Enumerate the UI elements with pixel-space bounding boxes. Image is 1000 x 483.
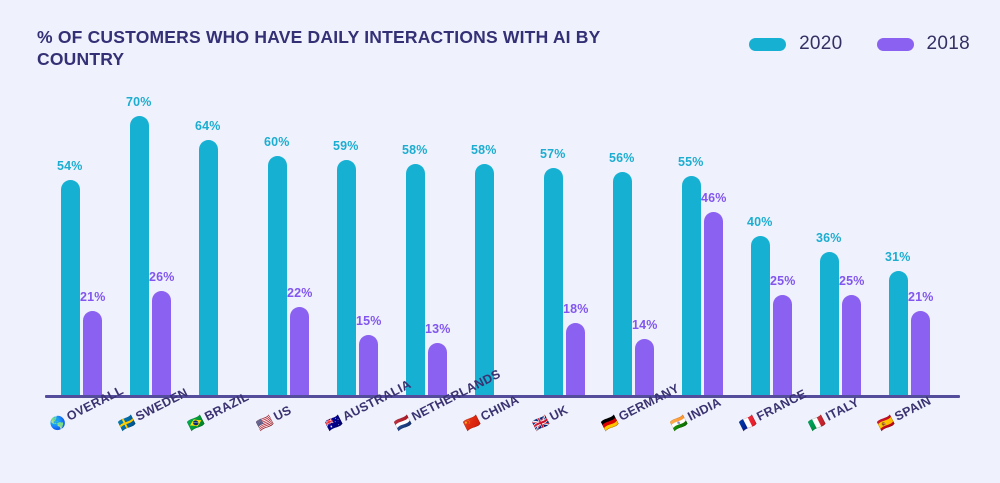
bar-france-2020[interactable] [751,236,770,395]
bar-group-overall: 54%21% [45,100,114,395]
x-axis-label-italy: 🇮🇹ITALY [806,395,861,432]
bar-value-label: 59% [333,139,359,153]
bar-value-label: 56% [609,151,635,165]
bar-value-label: 26% [149,270,175,284]
bar-group-uk: 57%18% [528,100,597,395]
bar-value-label: 58% [402,143,428,157]
bar-sweden-2020[interactable] [130,116,149,395]
flag-icon-australia: 🇦🇺 [323,413,344,432]
flag-icon-china: 🇨🇳 [461,413,482,432]
bar-value-label: 14% [632,318,658,332]
x-axis-label-text: CHINA [478,392,521,423]
legend-item-2018[interactable]: 2018 [877,33,970,55]
legend-item-2020[interactable]: 2020 [749,33,842,55]
bar-value-label: 36% [816,231,842,245]
flag-icon-netherlands: 🇳🇱 [392,413,413,432]
chart-legend: 20202018 [749,33,970,55]
bar-value-label: 57% [540,147,566,161]
flag-icon-france: 🇫🇷 [737,413,758,432]
flag-icon-india: 🇮🇳 [668,413,689,432]
x-axis-label-us: 🇺🇸US [254,403,294,432]
flag-icon-sweden: 🇸🇪 [116,413,137,432]
bar-value-label: 54% [57,159,83,173]
bar-germany-2018[interactable] [635,339,654,395]
bar-group-spain: 31%21% [873,100,942,395]
legend-swatch-icon [749,38,786,51]
bar-brazil-2020[interactable] [199,140,218,395]
flag-icon-uk: 🇬🇧 [530,413,551,432]
chart-header: % OF CUSTOMERS WHO HAVE DAILY INTERACTIO… [0,0,1000,86]
bar-italy-2018[interactable] [842,295,861,395]
bar-india-2018[interactable] [704,212,723,395]
bar-spain-2018[interactable] [911,311,930,395]
legend-swatch-icon [877,38,914,51]
bar-uk-2018[interactable] [566,323,585,395]
bar-overall-2018[interactable] [83,311,102,395]
bar-value-label: 58% [471,143,497,157]
bar-value-label: 25% [770,274,796,288]
bar-group-india: 55%46% [666,100,735,395]
x-axis-label-text: US [271,403,293,424]
bar-value-label: 18% [563,302,589,316]
bar-value-label: 70% [126,95,152,109]
bar-netherlands-2020[interactable] [406,164,425,395]
bar-overall-2020[interactable] [61,180,80,395]
bar-value-label: 55% [678,155,704,169]
x-axis-label-text: ITALY [823,395,861,424]
bar-group-italy: 36%25% [804,100,873,395]
bar-value-label: 60% [264,135,290,149]
bar-spain-2020[interactable] [889,271,908,395]
x-axis-labels: 🌎OVERALL🇸🇪SWEDEN🇧🇷BRAZIL🇺🇸US🇦🇺AUSTRALIA🇳… [45,398,960,483]
bar-group-france: 40%25% [735,100,804,395]
bar-italy-2020[interactable] [820,252,839,396]
x-axis-label-text: SPAIN [892,394,933,424]
flag-icon-germany: 🇩🇪 [599,413,620,432]
legend-label: 2020 [799,33,842,55]
chart-root: % OF CUSTOMERS WHO HAVE DAILY INTERACTIO… [0,0,1000,483]
x-axis-label-spain: 🇪🇸SPAIN [875,394,933,433]
bar-australia-2020[interactable] [337,160,356,395]
bar-value-label: 64% [195,119,221,133]
x-axis-label-text: INDIA [685,395,723,424]
x-axis-label-uk: 🇬🇧UK [530,403,570,433]
bar-group-china: 58% [459,100,528,395]
bar-group-australia: 59%15% [321,100,390,395]
bar-value-label: 31% [885,250,911,264]
x-axis-label-india: 🇮🇳INDIA [668,395,723,432]
bar-group-netherlands: 58%13% [390,100,459,395]
bar-value-label: 13% [425,322,451,336]
flag-icon-spain: 🇪🇸 [875,413,896,432]
bar-us-2020[interactable] [268,156,287,395]
bar-uk-2020[interactable] [544,168,563,395]
bar-value-label: 15% [356,314,382,328]
bar-us-2018[interactable] [290,307,309,395]
flag-icon-brazil: 🇧🇷 [185,413,206,432]
flag-icon-overall: 🌎 [47,413,68,432]
x-axis-label-text: UK [547,403,570,424]
legend-label: 2018 [927,33,970,55]
bar-sweden-2018[interactable] [152,291,171,395]
bar-value-label: 22% [287,286,313,300]
bar-group-us: 60%22% [252,100,321,395]
bar-value-label: 25% [839,274,865,288]
bar-france-2018[interactable] [773,295,792,395]
flag-icon-italy: 🇮🇹 [806,413,827,432]
x-axis-label-china: 🇨🇳CHINA [461,392,521,432]
bar-group-brazil: 64% [183,100,252,395]
bar-value-label: 40% [747,215,773,229]
bar-china-2020[interactable] [475,164,494,395]
bar-group-germany: 56%14% [597,100,666,395]
plot-area: 54%21%70%26%64%60%22%59%15%58%13%58%57%1… [0,86,1000,398]
page-title: % OF CUSTOMERS WHO HAVE DAILY INTERACTIO… [37,26,687,71]
flag-icon-us: 🇺🇸 [254,413,275,432]
bar-value-label: 21% [908,290,934,304]
bar-netherlands-2018[interactable] [428,343,447,395]
bar-germany-2020[interactable] [613,172,632,395]
bar-india-2020[interactable] [682,176,701,395]
bar-groups: 54%21%70%26%64%60%22%59%15%58%13%58%57%1… [45,100,960,395]
bar-value-label: 46% [701,191,727,205]
bar-value-label: 21% [80,290,106,304]
bar-australia-2018[interactable] [359,335,378,395]
bar-group-sweden: 70%26% [114,100,183,395]
